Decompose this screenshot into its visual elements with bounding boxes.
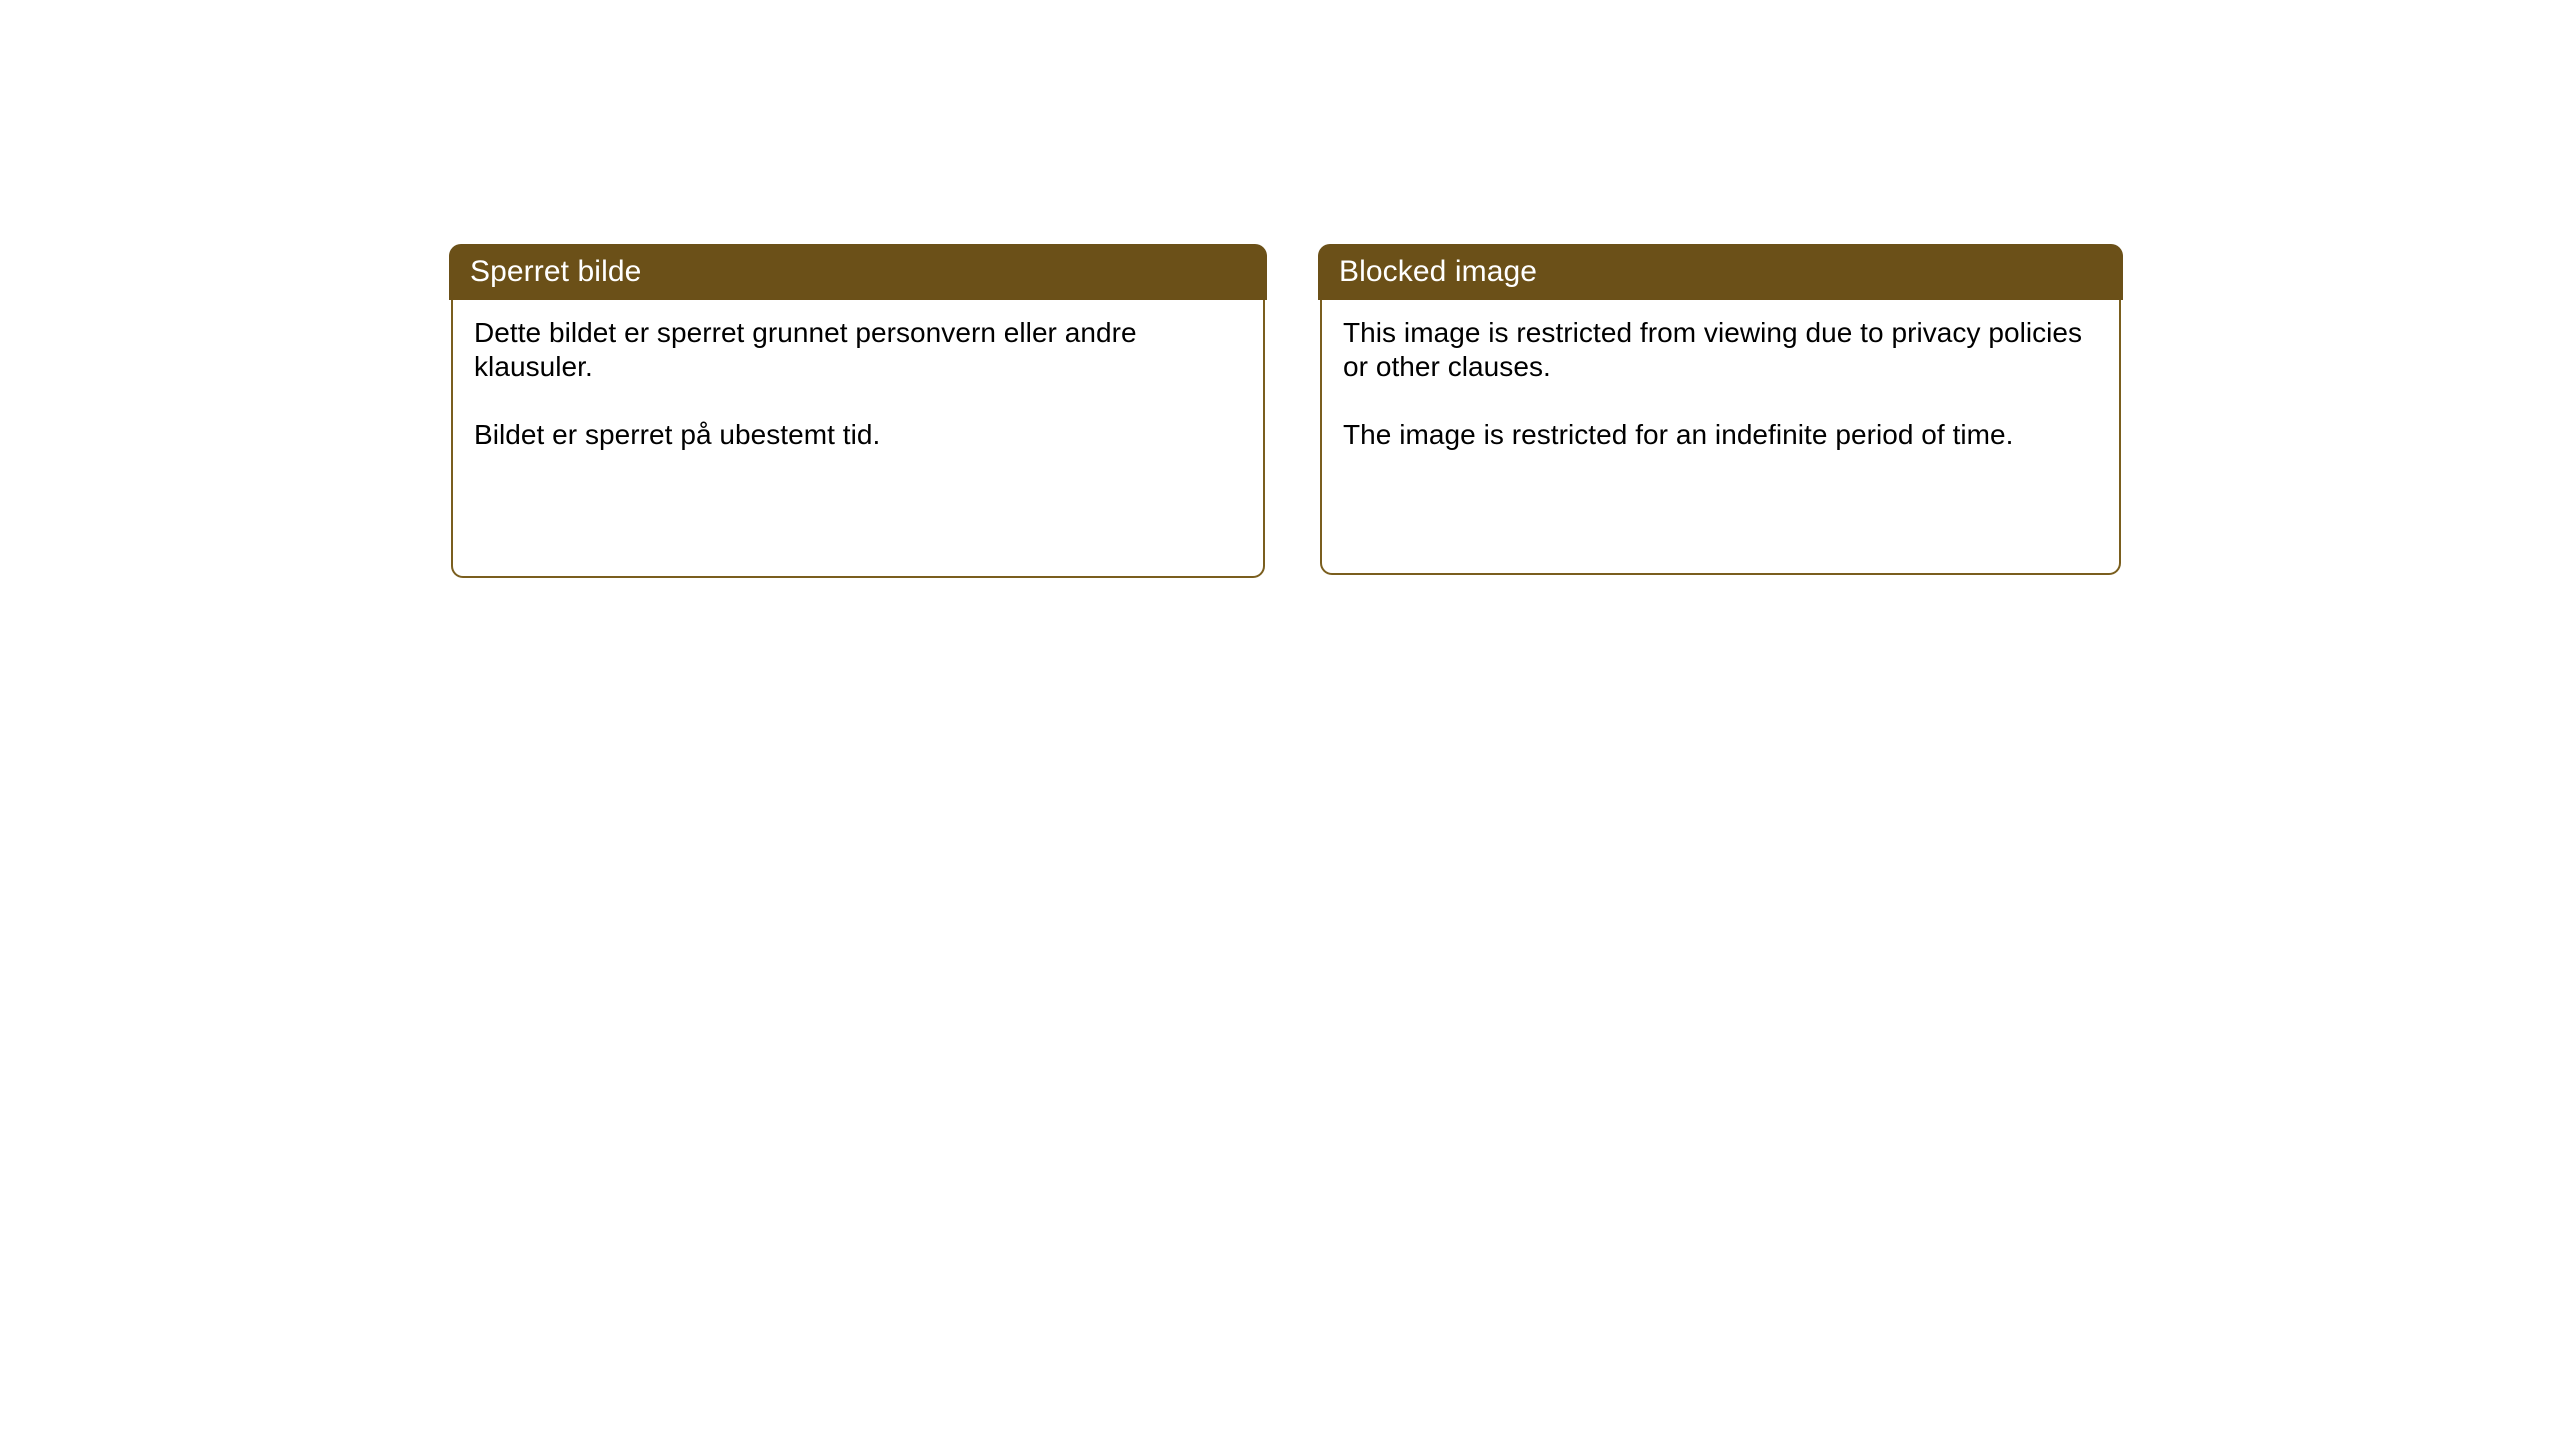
card-title-en: Blocked image — [1339, 255, 1537, 289]
card-paragraph-en-1: This image is restricted from viewing du… — [1343, 316, 2099, 384]
card-body-no: Dette bildet er sperret grunnet personve… — [451, 300, 1265, 578]
card-header-en: Blocked image — [1318, 244, 2123, 300]
card-paragraph-no-1: Dette bildet er sperret grunnet personve… — [474, 316, 1243, 384]
card-body-en: This image is restricted from viewing du… — [1320, 300, 2121, 575]
card-paragraph-no-2: Bildet er sperret på ubestemt tid. — [474, 418, 1243, 452]
card-header-no: Sperret bilde — [449, 244, 1267, 300]
blocked-image-notice-card-no: Sperret bilde Dette bildet er sperret gr… — [449, 244, 1267, 578]
card-paragraph-en-2: The image is restricted for an indefinit… — [1343, 418, 2099, 452]
blocked-image-notice-card-en: Blocked image This image is restricted f… — [1318, 244, 2123, 575]
card-title-no: Sperret bilde — [470, 255, 641, 289]
page-canvas: Sperret bilde Dette bildet er sperret gr… — [0, 0, 2560, 1440]
